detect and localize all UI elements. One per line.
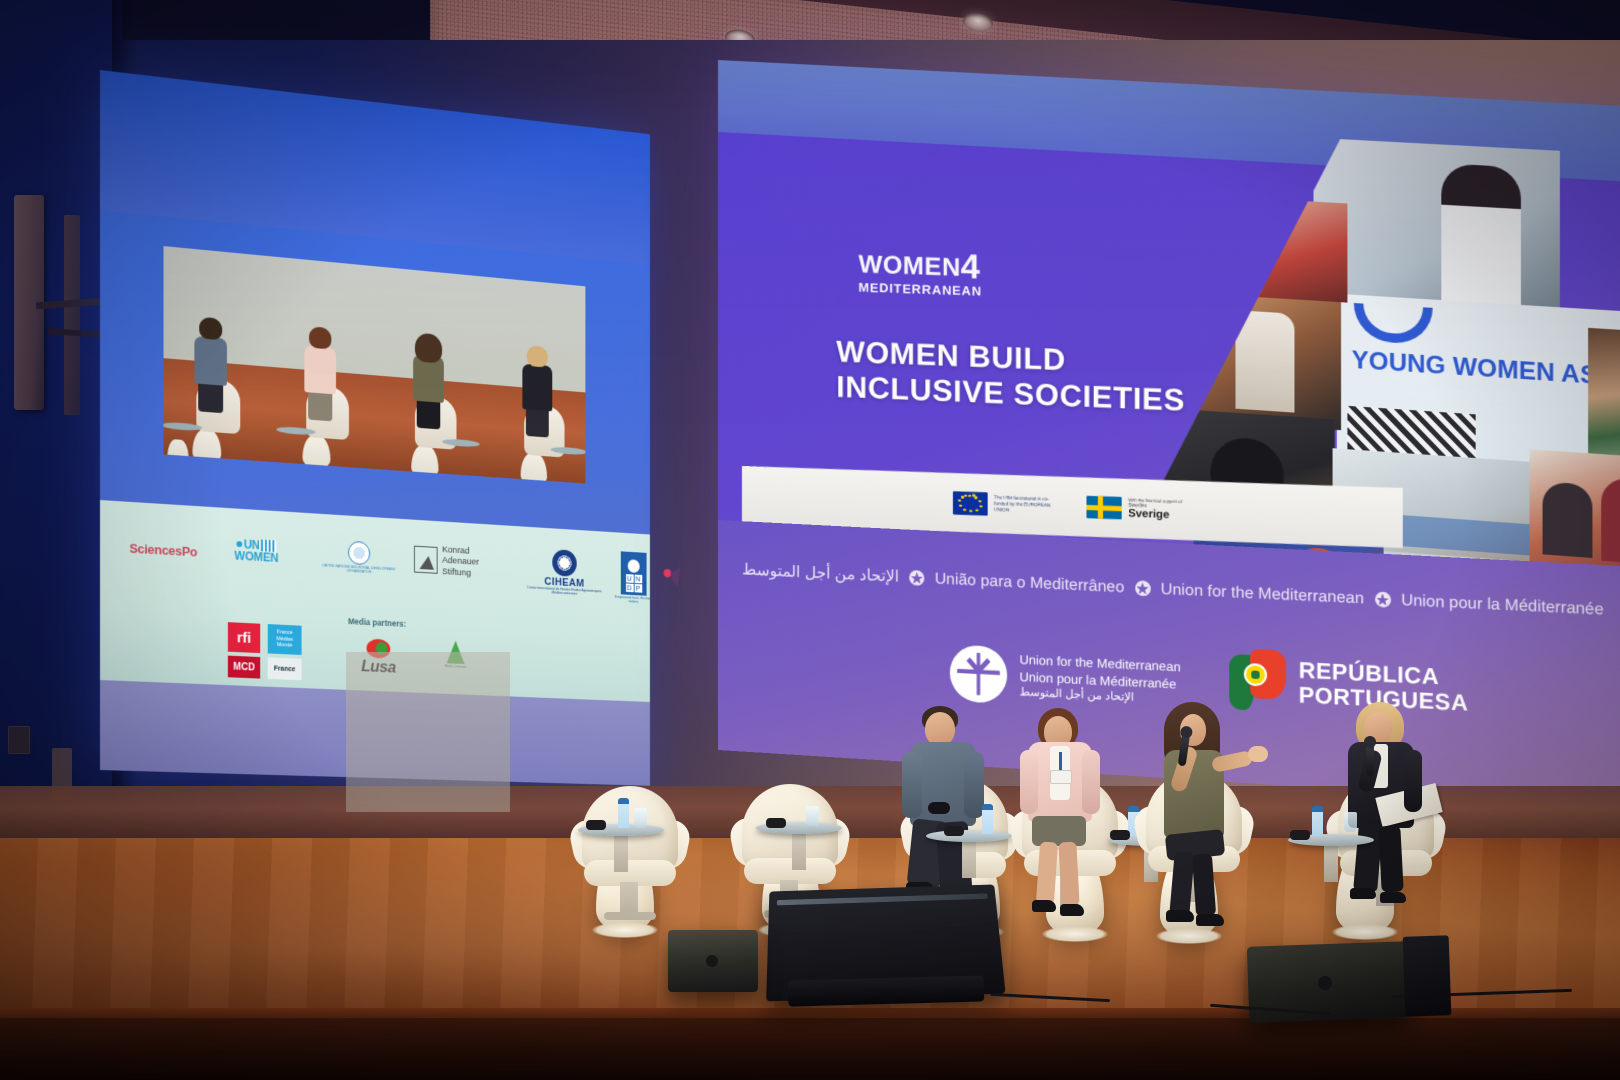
leg-right: [1192, 853, 1216, 916]
feed-torso: [194, 336, 227, 386]
arm-right: [1082, 750, 1100, 814]
handheld-device: [928, 802, 950, 814]
drinking-glass[interactable]: [1344, 812, 1357, 832]
skirt: [1032, 816, 1086, 846]
uw-mark-icon: [1354, 303, 1433, 345]
feed-hair: [415, 332, 442, 363]
confidence-monitor-base: [788, 975, 985, 1006]
arm-right: [964, 752, 984, 818]
handheld-microphone[interactable]: [1366, 742, 1374, 776]
live-camera-feed: [164, 246, 586, 483]
shoe: [1032, 900, 1056, 912]
clip-microphone[interactable]: [944, 826, 964, 836]
leg-right: [1378, 825, 1403, 892]
orchestra-pit-shadow: [0, 1018, 1620, 1080]
chair-foot: [604, 912, 656, 920]
feed-panelist: [194, 319, 227, 413]
feed-hair: [199, 316, 222, 340]
sweden-flag-icon: [1087, 496, 1122, 520]
logo-label: rfi: [228, 622, 260, 653]
shoe: [1060, 904, 1084, 916]
feed-legs: [198, 384, 223, 414]
funder-eu: The UfM Secretariat is co-funded by the …: [953, 491, 1060, 518]
clip-microphone[interactable]: [1110, 830, 1130, 840]
ufm-logo: Union for the Mediterranean Union pour l…: [950, 644, 1181, 712]
hand: [1248, 746, 1268, 762]
portugal-shield-icon: [1229, 648, 1286, 714]
logo-mcd: MCD: [228, 656, 260, 679]
media-partners-label: Media partners:: [348, 616, 406, 628]
head: [925, 712, 955, 746]
conference-hall-photo: SciencesPo UN WOMEN UNITED NATIONS INDUS…: [0, 0, 1620, 1080]
ufm-logo-text: Union for the Mediterranean Union pour l…: [1019, 652, 1180, 708]
side-table-stem: [1324, 842, 1338, 882]
logo-label: France Médias Monde: [268, 624, 302, 655]
feed-torso: [522, 363, 552, 411]
slide-headline: WOMEN BUILD INCLUSIVE SOCIETIES: [836, 334, 1185, 419]
logo-numeral-4: 4: [961, 247, 981, 286]
speaker-mount-fin: [64, 215, 80, 415]
side-table-stem: [962, 838, 976, 878]
logo-label: MCD: [228, 656, 260, 679]
logo-label: France: [268, 657, 302, 680]
side-table-stem: [614, 832, 628, 872]
clip-microphone[interactable]: [1290, 830, 1310, 840]
feed-hair: [527, 345, 548, 368]
wall-outlet-plate: [8, 726, 30, 754]
marquee-item-pt: União para o Mediterrâneo: [935, 570, 1125, 597]
eu-flag-icon: [953, 491, 988, 516]
asterisk-separator-icon: [909, 570, 924, 586]
logo-line-women: WOMEN4: [858, 248, 982, 284]
logo-france-medias-monde: France Médias Monde: [268, 624, 302, 655]
feed-legs: [526, 409, 549, 437]
clip-microphone[interactable]: [766, 818, 786, 828]
champalimaud-mark-icon: [664, 567, 683, 588]
arm-left: [1020, 750, 1038, 814]
feed-hair: [309, 326, 331, 349]
funder-sweden: With the financial support of Sweden Sve…: [1087, 496, 1182, 522]
asterisk-separator-icon: [1375, 591, 1391, 607]
feed-panelist: [304, 328, 336, 421]
shoe: [1350, 888, 1376, 899]
marquee-item-fr: Union pour la Méditerranée: [1401, 591, 1604, 619]
monitor-rear-panel: [1403, 935, 1452, 1017]
feed-moderator: [522, 347, 552, 437]
water-bottle[interactable]: [982, 804, 993, 834]
side-table: [926, 830, 1012, 842]
feed-legs: [308, 392, 332, 421]
shoe: [1196, 914, 1224, 926]
arm-left: [902, 752, 922, 818]
side-table-stem: [792, 830, 806, 870]
logo-rfi: rfi: [228, 622, 260, 653]
multilingual-marquee: الإتحاد من أجل المتوسط União para o Medi…: [718, 559, 1620, 624]
marquee-item-ar: الإتحاد من أجل المتوسط: [742, 560, 899, 586]
collage-banner-text: YOUNG WOMEN AS JOB: [1352, 348, 1620, 392]
marquee-item-en: Union for the Mediterranean: [1161, 580, 1364, 608]
asterisk-separator-icon: [1135, 580, 1151, 596]
ufm-emblem-icon: [950, 644, 1007, 703]
arm-right: [1404, 750, 1422, 812]
drinking-glass[interactable]: [806, 806, 819, 826]
logo-france24: France: [268, 657, 302, 680]
leg-right: [1058, 842, 1079, 907]
drinking-glass[interactable]: [634, 808, 647, 828]
logo-word-women: WOMEN: [858, 250, 960, 282]
water-bottle[interactable]: [618, 798, 629, 828]
feed-panelist-speaking: [413, 338, 444, 430]
funder-se-name2: Sverige: [1128, 508, 1182, 521]
clip-microphone[interactable]: [586, 820, 606, 830]
shoe: [1166, 910, 1194, 922]
feed-legs: [417, 401, 441, 430]
stage-monitor-speaker: [668, 930, 758, 992]
screen-support-column: [346, 652, 510, 812]
women4mediterranean-logo: WOMEN4 MEDITERRANEAN: [858, 248, 982, 299]
shoe: [1380, 892, 1406, 903]
water-bottle[interactable]: [1312, 806, 1323, 836]
funder-eu-text: The UfM Secretariat is co-funded by the …: [994, 495, 1060, 515]
republica-portuguesa-logo: REPÚBLICA PORTUGUESA: [1229, 648, 1468, 723]
conference-badge: [1050, 752, 1072, 782]
feed-torso: [304, 345, 336, 394]
chair-stem: [620, 882, 638, 916]
